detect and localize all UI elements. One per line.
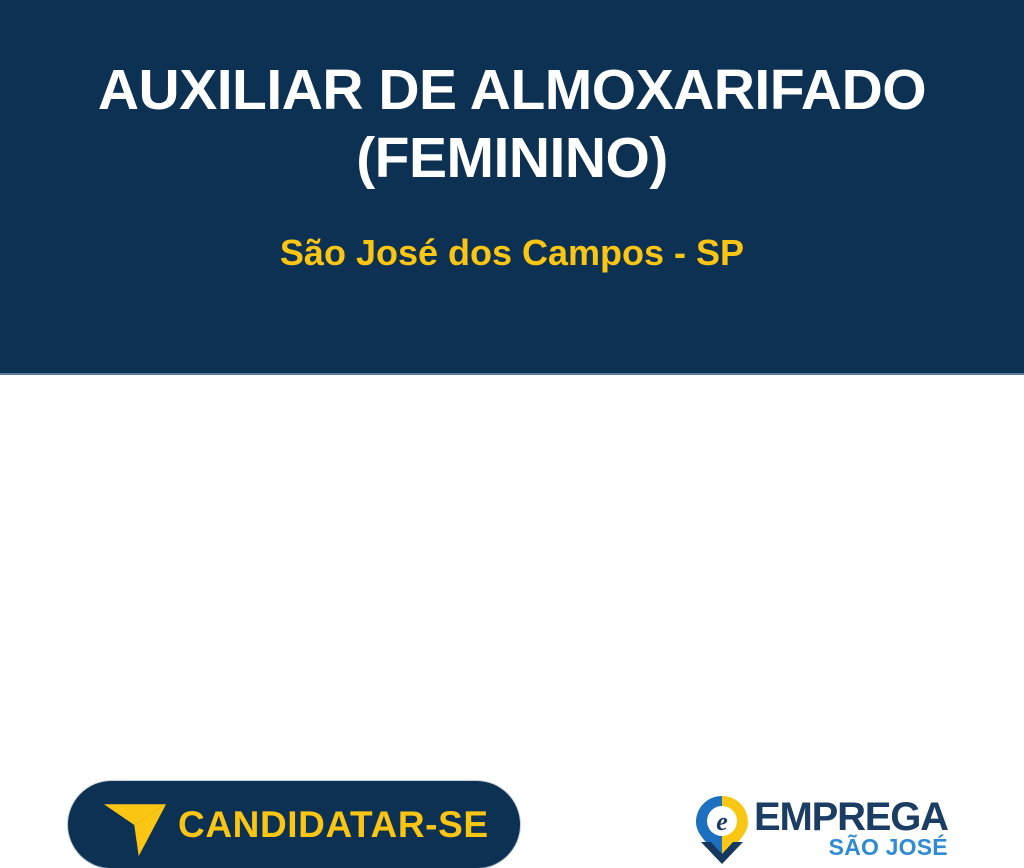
apply-button-label: CANDIDATAR-SE — [178, 806, 489, 843]
svg-text:e: e — [716, 807, 728, 836]
brand-subname: SÃO JOSÉ — [829, 835, 948, 859]
brand-wordmark: EMPREGA SÃO JOSÉ — [754, 797, 948, 859]
brand-name: EMPREGA — [754, 797, 948, 837]
job-location: São José dos Campos - SP — [62, 232, 962, 274]
action-bar: CANDIDATAR-SE e EMPREGA SÃO JOSÉ — [0, 375, 1024, 538]
job-header-banner: Auxiliar de Almoxarifado (Feminino) São … — [0, 0, 1024, 375]
page-title: Auxiliar de Almoxarifado (Feminino) — [62, 56, 962, 192]
apply-button[interactable]: CANDIDATAR-SE — [68, 781, 520, 868]
send-icon — [98, 788, 172, 862]
job-posting-card: Auxiliar de Almoxarifado (Feminino) São … — [0, 0, 1024, 538]
brand-logo: e EMPREGA SÃO JOSÉ — [694, 793, 926, 867]
map-pin-e-icon: e — [694, 795, 750, 865]
